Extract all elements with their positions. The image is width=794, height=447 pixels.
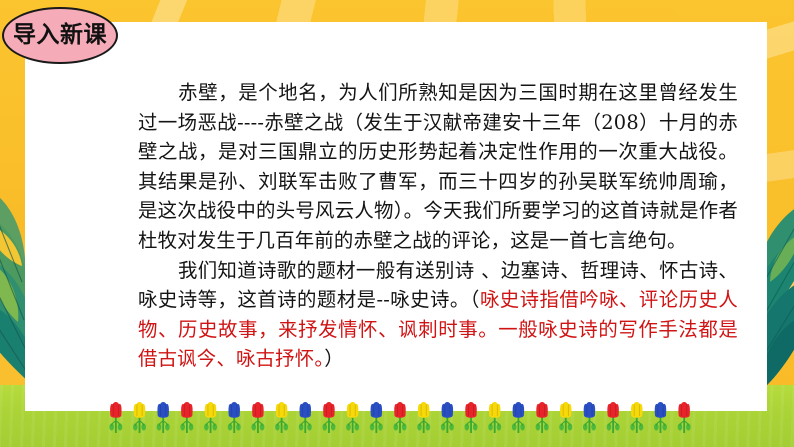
paragraph-2: 我们知道诗歌的题材一般有送别诗 、边塞诗、哲理诗、怀古诗、咏史诗等，这首诗的题材… [138,256,738,374]
tulip-icon [322,402,335,433]
tulip-icon [536,402,549,433]
text-run-black: ） [324,347,344,370]
section-title-badge: 导入新课 [2,7,118,64]
tulip-border-decoration [104,401,696,441]
tulip-icon [512,402,525,433]
tulip-icon [299,402,312,433]
section-title-label: 导入新课 [13,24,107,47]
tulip-icon [678,402,691,433]
tulip-icon [394,402,407,433]
tulip-icon [370,402,383,433]
tulip-icon [180,402,193,433]
tulip-icon [251,402,264,433]
presentation-slide: 导入新课 赤壁，是个地名，为人们所熟知是因为三国时期在这里曾经发生过一场恶战--… [0,0,794,447]
tulip-icon [607,402,620,433]
tulip-icon [133,402,146,433]
tulip-icon [441,402,454,433]
tulip-icon [488,402,501,433]
tulip-icon [630,402,643,433]
text-run-black: 赤壁，是个地名，为人们所熟知是因为三国时期在这里曾经发生过一场恶战----赤壁之… [138,81,738,252]
tulip-icon [465,402,478,433]
tulip-icon [109,402,122,433]
tulip-icon [417,402,430,433]
tulip-icon [346,402,359,433]
paragraph-1: 赤壁，是个地名，为人们所熟知是因为三国时期在这里曾经发生过一场恶战----赤壁之… [138,78,738,256]
lesson-body-text: 赤壁，是个地名，为人们所熟知是因为三国时期在这里曾经发生过一场恶战----赤壁之… [138,78,738,374]
tulip-icon [157,402,170,433]
tulip-icon [228,402,241,433]
tulip-icon [275,402,288,433]
tulip-icon [204,402,217,433]
tulip-icon [583,402,596,433]
tulip-icon [559,402,572,433]
tulip-icon [654,402,667,433]
